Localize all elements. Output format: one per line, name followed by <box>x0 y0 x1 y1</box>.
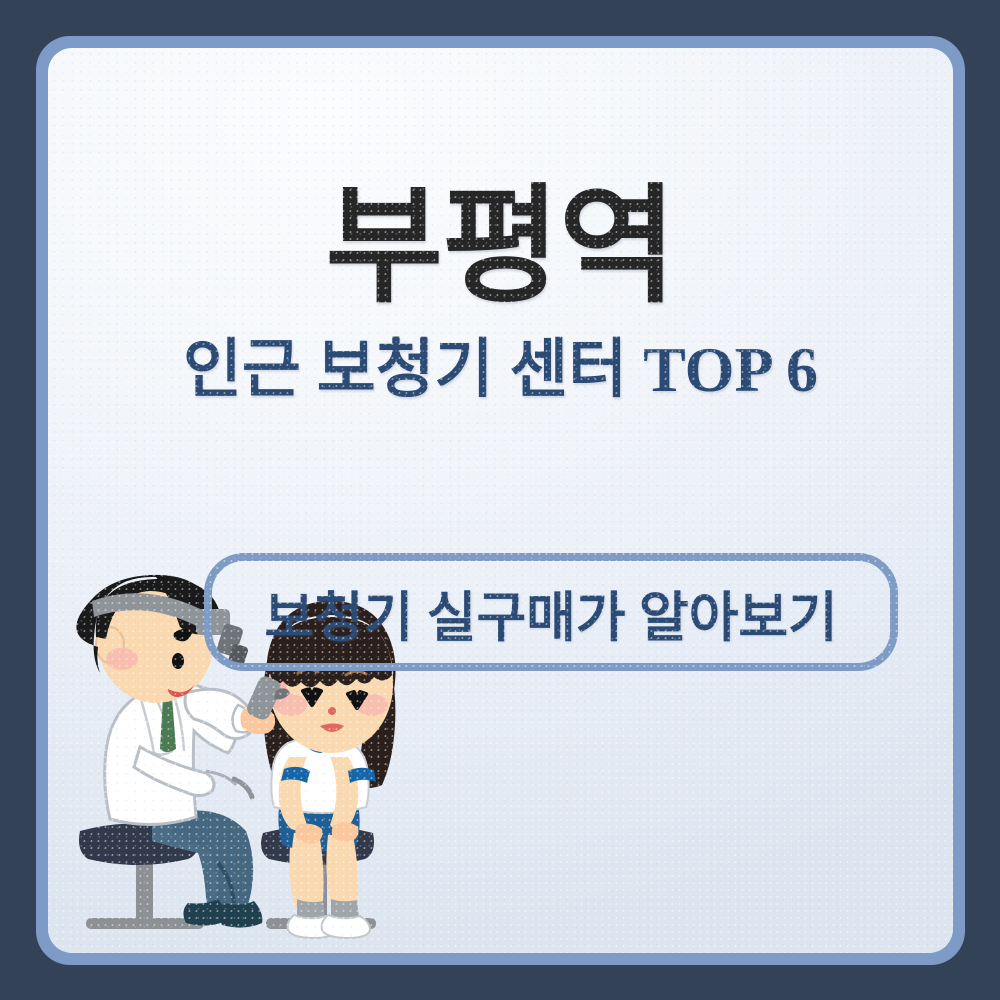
page-subtitle: 인근 보청기 센터 TOP 6 <box>48 333 953 407</box>
page-title: 부평역 <box>48 178 953 316</box>
poster-canvas: 부평역 인근 보청기 센터 TOP 6 보청기 실구매가 알아보기 <box>0 0 1000 1000</box>
cta-button-label: 보청기 실구매가 알아보기 <box>264 573 837 652</box>
card-panel: 부평역 인근 보청기 센터 TOP 6 보청기 실구매가 알아보기 <box>48 48 953 953</box>
cta-pill-button[interactable]: 보청기 실구매가 알아보기 <box>204 553 898 671</box>
